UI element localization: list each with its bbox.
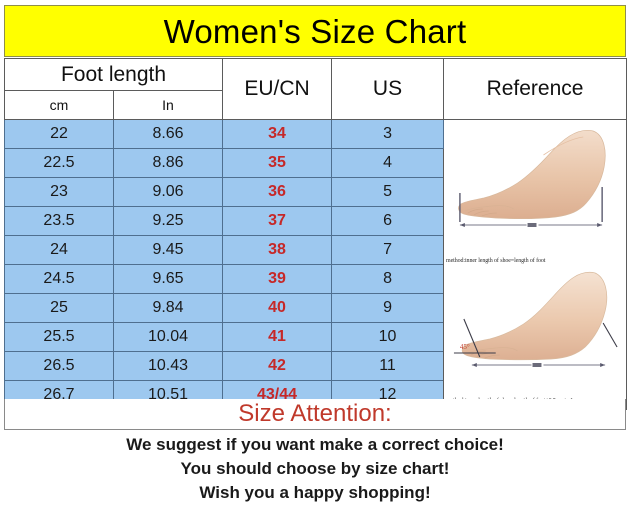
reference-cell: method:inner length of shoe=length of fo… [444, 120, 627, 410]
note-line: We suggest if you want make a correct ch… [4, 433, 626, 457]
size-table: Foot length EU/CN US Reference cm In 22 … [4, 58, 627, 410]
attention-notes: We suggest if you want make a correct ch… [4, 430, 626, 505]
angle-label-text: 45° [460, 342, 470, 350]
cell-us: 8 [332, 265, 444, 294]
header-us: US [332, 59, 444, 120]
foot-side-view-photo-two: 45° [444, 265, 626, 383]
cell-cm: 26.5 [5, 352, 114, 381]
cell-cm: 23.5 [5, 207, 114, 236]
header-foot-length: Foot length [5, 59, 223, 91]
cell-in: 9.45 [114, 236, 223, 265]
cell-eu-cn: 39 [223, 265, 332, 294]
cell-cm: 25 [5, 294, 114, 323]
header-reference: Reference [444, 59, 627, 120]
page-title: Women's Size Chart [164, 15, 467, 48]
cell-in: 9.84 [114, 294, 223, 323]
table-header-row-main: Foot length EU/CN US Reference [5, 59, 627, 91]
reference-caption-one: method:inner length of shoe=length of fo… [446, 258, 624, 264]
foot-side-view-photo-one [444, 125, 626, 243]
cell-us: 4 [332, 149, 444, 178]
header-cm: cm [5, 91, 114, 120]
cell-in: 10.04 [114, 323, 223, 352]
cell-in: 9.25 [114, 207, 223, 236]
cell-eu-cn: 34 [223, 120, 332, 149]
size-table-container: Foot length EU/CN US Reference cm In 22 … [4, 58, 626, 399]
size-attention-heading: Size Attention: [238, 402, 391, 426]
cell-in: 9.06 [114, 178, 223, 207]
header-eu-cn: EU/CN [223, 59, 332, 120]
cell-in: 8.66 [114, 120, 223, 149]
reference-diagram-two: 45° method:inner length of shoe=length o… [444, 265, 626, 405]
cell-us: 10 [332, 323, 444, 352]
cell-eu-cn: 36 [223, 178, 332, 207]
cell-us: 7 [332, 236, 444, 265]
foot-illustration-one-icon [444, 125, 626, 243]
cell-cm: 22 [5, 120, 114, 149]
reference-diagram-stack: method:inner length of shoe=length of fo… [444, 125, 626, 405]
table-row: 22 8.66 34 3 [5, 120, 627, 149]
cell-cm: 23 [5, 178, 114, 207]
cell-us: 11 [332, 352, 444, 381]
cell-us: 6 [332, 207, 444, 236]
cell-eu-cn: 37 [223, 207, 332, 236]
size-attention-band: Size Attention: [4, 399, 626, 430]
size-chart-sheet: Women's Size Chart Foot length EU/CN US … [0, 0, 630, 507]
cell-eu-cn: 41 [223, 323, 332, 352]
cell-eu-cn: 42 [223, 352, 332, 381]
cell-eu-cn: 35 [223, 149, 332, 178]
header-in: In [114, 91, 223, 120]
reference-diagram-one: method:inner length of shoe=length of fo… [444, 125, 626, 265]
note-line: You should choose by size chart! [4, 457, 626, 481]
cell-eu-cn: 40 [223, 294, 332, 323]
note-line: Wish you a happy shopping! [4, 481, 626, 505]
cell-cm: 24.5 [5, 265, 114, 294]
cell-in: 10.43 [114, 352, 223, 381]
cell-in: 8.86 [114, 149, 223, 178]
cell-eu-cn: 38 [223, 236, 332, 265]
cell-cm: 25.5 [5, 323, 114, 352]
chart-title-band: Women's Size Chart [4, 5, 626, 57]
cell-cm: 24 [5, 236, 114, 265]
cell-cm: 22.5 [5, 149, 114, 178]
cell-us: 3 [332, 120, 444, 149]
cell-in: 9.65 [114, 265, 223, 294]
cell-us: 5 [332, 178, 444, 207]
cell-us: 9 [332, 294, 444, 323]
foot-illustration-two-icon: 45° [444, 265, 626, 383]
